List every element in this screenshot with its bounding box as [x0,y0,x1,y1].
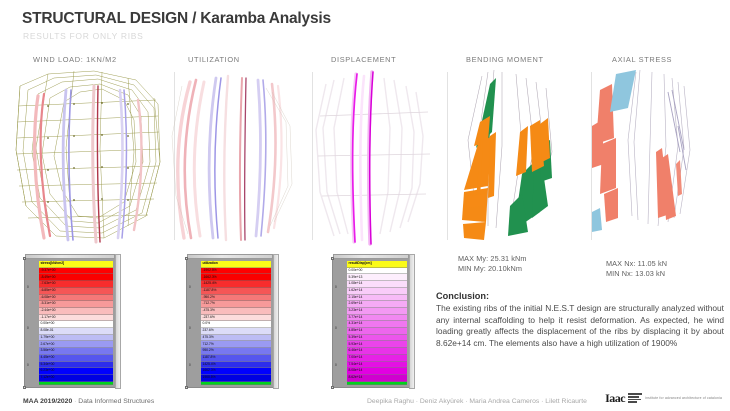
viewport-bending-moment[interactable] [430,66,580,246]
legend-footer [39,382,113,385]
legend-row: -5.31e+00 [39,301,113,308]
legend-footer [201,382,271,385]
legend-tick: 0 [189,326,191,330]
legend-row: -950.2% [201,295,271,302]
legend-tick: 0 [335,326,337,330]
caption-wind-load: WIND LOAD: 1KN/M2 [33,55,117,64]
legend-row: 3.56e+00 [39,348,113,355]
legend-row: 2.67e+00 [39,341,113,348]
caption-utilization: UTILIZATION [188,55,240,64]
legend-row: -1902.5% [201,268,271,275]
iaac-logo-tagline: institute for advanced architecture of c… [645,396,722,400]
stress-legend[interactable]: 0 0 0 stress[kN/cm2] -9.37e+00 -8.49e+00… [24,258,116,388]
legend-titlebar[interactable] [25,254,115,259]
legend-footer [347,382,407,385]
legend-row: 6.46e+14 [347,348,407,355]
legend-row: 1.62e+14 [347,288,407,295]
footer-authors: Deepika Raghu · Deniz Akyürek · Maria An… [367,398,587,405]
legend-row: 3.23e+14 [347,308,407,315]
legend-tick: 0 [27,285,29,289]
axial-min-value: MIN Nx: 13.03 kN [606,269,667,279]
legend-tick: 0 [335,285,337,289]
legend-row: 1.79e+00 [39,335,113,342]
legend-row: 5.34e+00 [39,362,113,369]
footer-left: MAA 2019/2020 · Data Informed Structures [23,398,154,405]
axial-stress-model [592,66,730,246]
viewport-axial-stress[interactable] [592,66,730,246]
legend-scrollbar[interactable] [273,254,279,389]
legend-scrollbar[interactable] [409,254,415,389]
legend-row: 3.77e+14 [347,315,407,322]
legend-handle-tl[interactable] [23,257,26,260]
legend-row: 475.3% [201,335,271,342]
legend-tick: 0 [27,363,29,367]
legend-row: 5.39e+13 [347,274,407,281]
legend-row-list: utilization -1902.5% -1662.3% -1425.4% -… [201,261,271,385]
axial-max-value: MAX Nx: 11.05 kN [606,259,667,269]
legend-row: 0.00e+00 [39,321,113,328]
legend-row: -8.49e+00 [39,274,113,281]
legend-row: 950.2% [201,348,271,355]
legend-row: -712.7% [201,301,271,308]
legend-tick: 0 [335,363,337,367]
legend-scrollbar[interactable] [115,254,121,389]
caption-bending-moment: BENDING MOMENT [466,55,544,64]
legend-row: 4.31e+14 [347,321,407,328]
legend-row: 6.23e+00 [39,368,113,375]
legend-tick-marks: 0 0 0 [26,263,38,385]
page-title: STRUCTURAL DESIGN / Karamba Analysis [22,10,331,28]
conclusion-heading: Conclusion: [436,291,489,301]
legend-row-list: resultDisp[cm] 0.00e+00 5.39e+13 1.08e+1… [347,261,407,385]
utilization-legend[interactable]: 0 0 0 utilization -1902.5% -1662.3% -142… [186,258,274,388]
legend-row: 5.39e+14 [347,335,407,342]
legend-row: 4.45e+00 [39,355,113,362]
legend-tick: 0 [27,326,29,330]
legend-row: 7.12e+00 [39,375,113,382]
viewport-utilization[interactable] [166,66,304,246]
legend-row-list: stress[kN/cm2] -9.37e+00 -8.49e+00 -7.63… [39,261,113,385]
legend-row: 1.08e+14 [347,281,407,288]
legend-row: -7.63e+00 [39,281,113,288]
legend-title: utilization [201,261,271,268]
utilization-model [166,66,304,246]
bending-moment-model [430,66,580,246]
legend-row: -6.08e+00 [39,295,113,302]
caption-displacement: DISPLACEMENT [331,55,396,64]
wind-load-model [8,66,168,246]
legend-row: 1900.5% [201,375,271,382]
iaac-logo-text: Iaac [605,392,625,404]
legend-row: -1.17e+00 [39,315,113,322]
iaac-logo-bars [628,393,642,402]
displacement-legend[interactable]: 0 0 0 resultDisp[cm] 0.00e+00 5.39e+13 1… [332,258,410,388]
legend-row: 8.08e-01 [39,328,113,335]
bending-min-value: MIN My: 20.10kNm [458,264,527,274]
legend-row: -1425.4% [201,281,271,288]
footer-subject: Data Informed Structures [78,398,154,405]
legend-row: 8.62e+14 [347,375,407,382]
footer-separator: · [74,398,76,405]
legend-tick-marks: 0 0 0 [188,263,200,385]
legend-row: 2.69e+14 [347,301,407,308]
axial-stress-readout: MAX Nx: 11.05 kN MIN Nx: 13.03 kN [606,259,667,278]
legend-handle-bl[interactable] [185,386,188,389]
legend-row: -9.37e+00 [39,268,113,275]
legend-row: 7.54e+14 [347,362,407,369]
legend-row: 712.7% [201,341,271,348]
footer-course: MAA 2019/2020 [23,398,72,405]
legend-row: 1425.4% [201,362,271,369]
legend-row: -475.3% [201,308,271,315]
bending-max-value: MAX My: 25.31 kNm [458,254,527,264]
conclusion-body: The existing ribs of the initial N.E.S.T… [436,303,724,349]
legend-row: 237.6% [201,328,271,335]
legend-titlebar[interactable] [187,254,273,259]
legend-row: -6.85e+00 [39,288,113,295]
slide-root: STRUCTURAL DESIGN / Karamba Analysis RES… [0,0,730,411]
legend-row: 0.0% [201,321,271,328]
legend-row: 5.93e+14 [347,341,407,348]
viewport-displacement[interactable] [310,66,440,246]
displacement-model [310,66,440,246]
legend-row: 0.00e+00 [347,268,407,275]
legend-row: -237.6% [201,315,271,322]
legend-handle-bl[interactable] [23,386,26,389]
bending-moment-readout: MAX My: 25.31 kNm MIN My: 20.10kNm [458,254,527,273]
legend-handle-tl[interactable] [185,257,188,260]
legend-titlebar[interactable] [333,254,409,259]
legend-row: 4.85e+14 [347,328,407,335]
legend-row: 8.08e+14 [347,368,407,375]
legend-tick-marks: 0 0 0 [334,263,346,385]
legend-row: -1187.8% [201,288,271,295]
viewport-wind-load[interactable] [8,66,168,246]
page-subtitle: RESULTS FOR ONLY RIBS [23,31,144,41]
legend-tick: 0 [189,363,191,367]
legend-row: 7.00e+14 [347,355,407,362]
legend-row: -1662.3% [201,274,271,281]
caption-axial-stress: AXIAL STRESS [612,55,672,64]
legend-handle-bl[interactable] [331,386,334,389]
legend-row: -2.44e+00 [39,308,113,315]
legend-handle-tl[interactable] [331,257,334,260]
legend-row: 2.15e+14 [347,295,407,302]
legend-tick: 0 [189,285,191,289]
legend-title: stress[kN/cm2] [39,261,113,268]
legend-row: 1187.8% [201,355,271,362]
iaac-logo: Iaac institute for advanced architecture… [605,392,722,404]
legend-title: resultDisp[cm] [347,261,407,268]
legend-row: 1662.3% [201,368,271,375]
